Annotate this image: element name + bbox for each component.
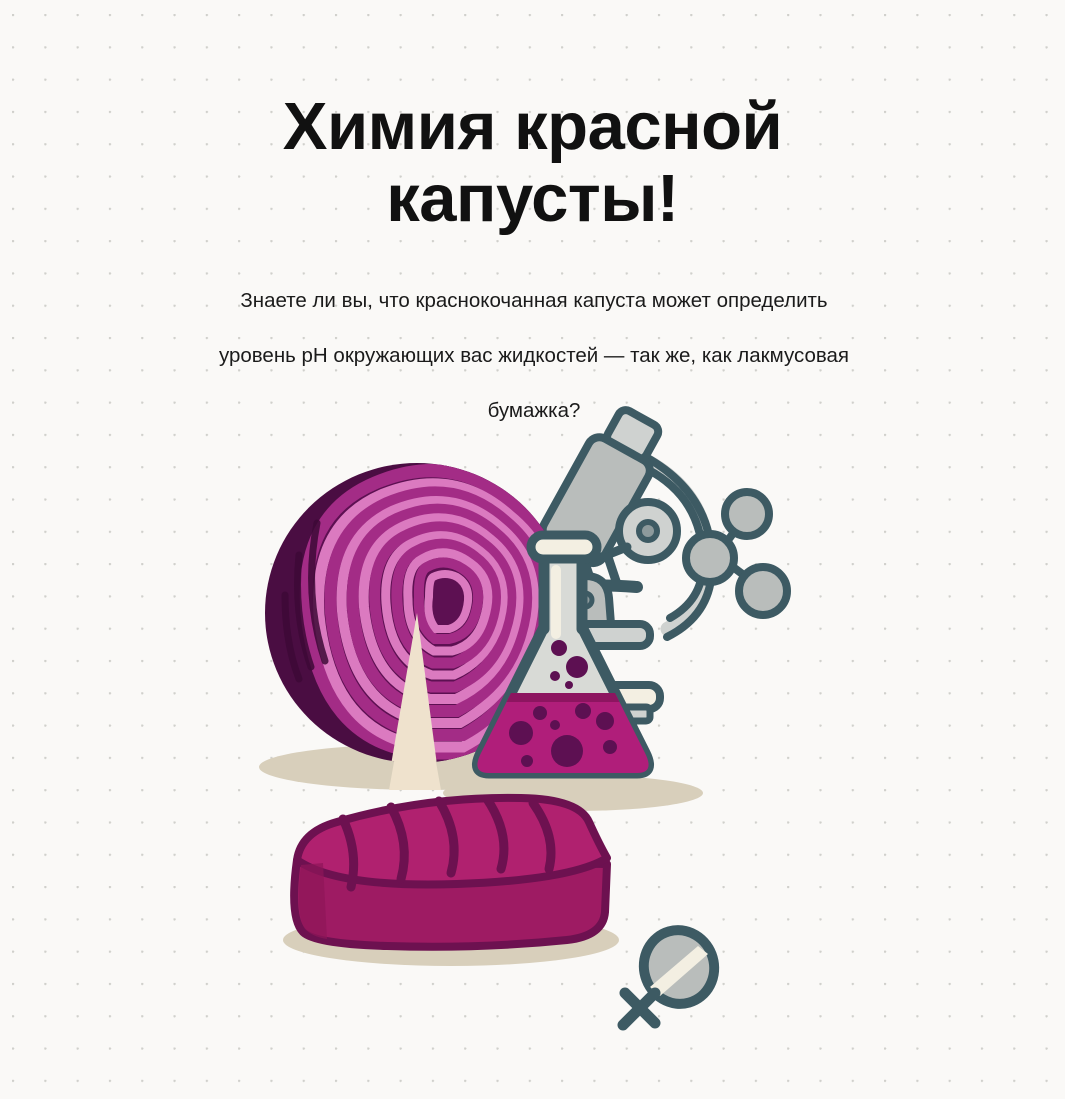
molecule-atom-top [725,492,769,536]
red-cabbage-chemistry-illustration [255,395,825,1065]
magnifier-handle [623,993,655,1025]
microscope-nosepiece-center [639,522,657,540]
poster-page: Химия красной капусты! Знаете ли вы, что… [0,0,1065,1099]
flask-rim [531,535,597,559]
molecule-atom-bottom [739,567,787,615]
cabbage-slice-slab [294,798,607,947]
page-title: Химия красной капусты! [0,91,1065,235]
molecule-atom-left [686,534,734,582]
magnifying-glass-icon [623,922,723,1025]
